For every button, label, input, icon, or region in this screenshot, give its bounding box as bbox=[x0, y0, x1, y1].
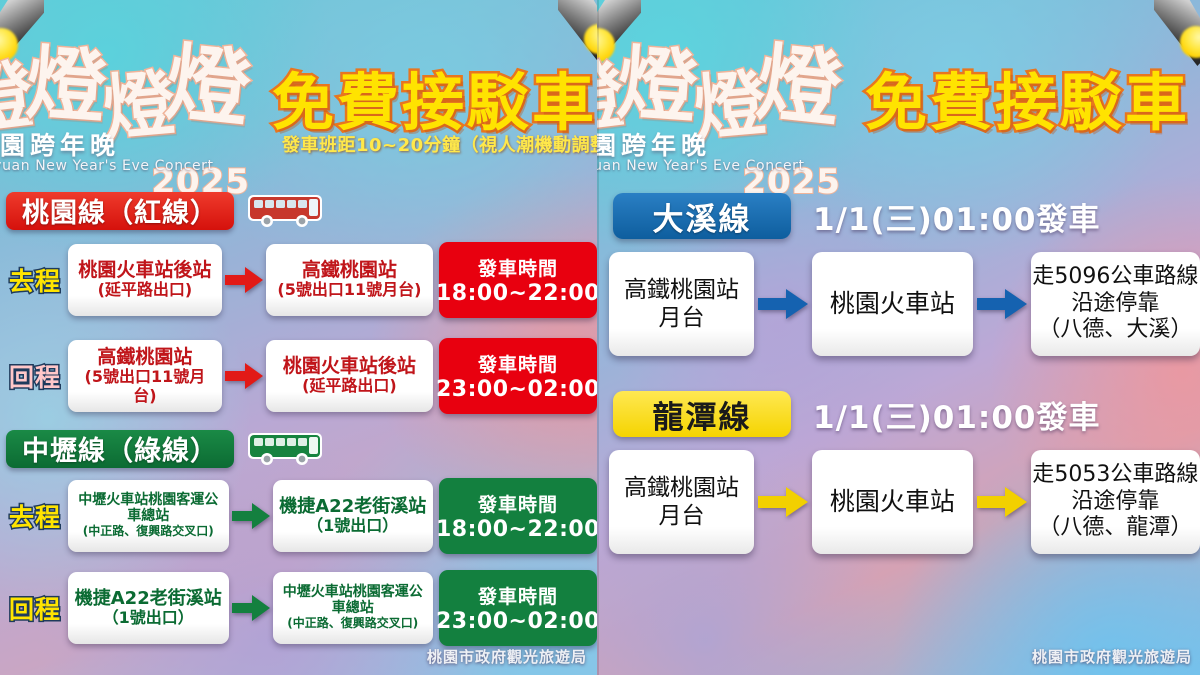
logo-char: 燈 bbox=[162, 40, 254, 132]
section-header: 龍潭線 1/1(三)01:00發車 bbox=[597, 390, 1200, 438]
line-badge-longtan: 龍潭線 bbox=[613, 391, 791, 437]
stop-name: 月台 bbox=[659, 304, 705, 332]
event-name-en: Taoyuan New Year's Eve Concert bbox=[597, 158, 805, 174]
arrow-right-icon bbox=[222, 267, 266, 293]
route-row: 去程 中壢火車站桃園客運公車總站 (中正路、復興路交叉口) 機捷A22老街溪站 … bbox=[0, 470, 597, 562]
section-header: 中壢線（綠線） bbox=[0, 428, 597, 470]
stop-name: 中壢火車站桃園客運公車總站 bbox=[74, 493, 223, 524]
stop-name: 機捷A22老街溪站 bbox=[75, 589, 222, 609]
stop-box-destination: 走5096公車路線 沿途停靠 （八德、大溪） bbox=[1031, 252, 1200, 356]
header: 燈 燈 燈 燈 桃園跨年晚會 2025 Taoyuan New Year's E… bbox=[0, 0, 597, 182]
stop-note: (5號出口11號月台) bbox=[74, 368, 216, 405]
time-value: 23:00~02:00 bbox=[436, 377, 597, 402]
stop-box-destination: 機捷A22老街溪站 （1號出口） bbox=[273, 480, 434, 552]
stop-name: 高鐵桃園站 bbox=[97, 347, 192, 368]
bus-icon-green bbox=[246, 429, 328, 469]
arrow-right-icon bbox=[222, 363, 266, 389]
time-label: 發車時間 bbox=[478, 350, 558, 377]
stop-note: (中正路、復興路交叉口) bbox=[83, 525, 214, 539]
stop-box-destination: 桃園火車站後站 (延平路出口) bbox=[266, 340, 433, 412]
stop-box-origin: 高鐵桃園站 月台 bbox=[609, 450, 754, 554]
stop-box-origin: 高鐵桃園站 (5號出口11號月台) bbox=[68, 340, 222, 412]
section-zhongli-green-line: 中壢線（綠線） bbox=[0, 428, 597, 654]
bus-icon-red bbox=[246, 191, 328, 231]
stop-note: (中正路、復興路交叉口) bbox=[287, 617, 418, 631]
stop-note: （八德、龍潭） bbox=[1038, 515, 1192, 542]
departure-time-box: 發車時間 23:00~02:00 bbox=[439, 570, 597, 646]
event-logo: 燈 燈 燈 燈 桃園跨年晚會 2025 Taoyuan New Year's E… bbox=[0, 8, 250, 130]
section-header: 大溪線 1/1(三)01:00發車 bbox=[597, 192, 1200, 240]
left-panel: 燈 燈 燈 燈 桃園跨年晚會 2025 Taoyuan New Year's E… bbox=[0, 0, 597, 675]
stop-name: 沿途停靠 bbox=[1071, 291, 1159, 318]
stop-box-transfer: 桃園火車站 bbox=[812, 252, 973, 356]
logo-char: 燈 bbox=[615, 43, 700, 128]
section-taoyuan-red-line: 桃園線（紅線） bbox=[0, 190, 597, 424]
panel-divider bbox=[597, 0, 599, 675]
shuttle-bus-infographic: 燈 燈 燈 燈 桃園跨年晚會 2025 Taoyuan New Year's E… bbox=[0, 0, 1200, 675]
time-value: 18:00~22:00 bbox=[436, 281, 597, 306]
right-panel: 燈 燈 燈 燈 桃園跨年晚會 2025 Taoyuan New Year's E… bbox=[597, 0, 1200, 675]
event-name-en: Taoyuan New Year's Eve Concert bbox=[0, 158, 214, 174]
stop-box-origin: 中壢火車站桃園客運公車總站 (中正路、復興路交叉口) bbox=[68, 480, 229, 552]
route-row: 回程 機捷A22老街溪站 （1號出口） 中壢火車站桃園客運公車總站 (中正路、復… bbox=[0, 562, 597, 654]
stop-note: （1號出口） bbox=[307, 517, 398, 535]
stop-box-origin: 桃園火車站後站 (延平路出口) bbox=[68, 244, 222, 316]
credit-text: 桃園市政府觀光旅遊局 bbox=[427, 646, 587, 667]
route-row: 高鐵桃園站 月台 桃園火車站 走5096公車路線 沿途停靠 （八德、大溪） bbox=[597, 240, 1200, 368]
arrow-right-icon bbox=[754, 289, 812, 319]
stop-box-transfer: 桃園火車站 bbox=[812, 450, 973, 554]
time-value: 23:00~02:00 bbox=[436, 609, 597, 634]
stop-note: （八德、大溪） bbox=[1038, 317, 1192, 344]
stop-box-destination: 中壢火車站桃園客運公車總站 (中正路、復興路交叉口) bbox=[273, 572, 434, 644]
stop-name: 高鐵桃園站 bbox=[624, 474, 739, 502]
stop-name: 機捷A22老街溪站 bbox=[279, 497, 426, 517]
direction-label: 去程 bbox=[2, 498, 68, 534]
section-header: 桃園線（紅線） bbox=[0, 190, 597, 232]
stop-name: 中壢火車站桃園客運公車總站 bbox=[279, 585, 428, 616]
page-title: 免費接駁車 bbox=[865, 52, 1190, 142]
stop-name: 沿途停靠 bbox=[1071, 489, 1159, 516]
stop-name: 桃園火車站後站 bbox=[78, 260, 211, 281]
stop-name: 桃園火車站 bbox=[830, 487, 955, 518]
departure-time-box: 發車時間 18:00~22:00 bbox=[439, 242, 597, 318]
stop-box-destination: 走5053公車路線 沿途停靠 （八德、龍潭） bbox=[1031, 450, 1200, 554]
line-badge-daxi: 大溪線 bbox=[613, 193, 791, 239]
event-logo: 燈 燈 燈 燈 桃園跨年晚會 2025 Taoyuan New Year's E… bbox=[597, 8, 841, 130]
stop-name: 月台 bbox=[659, 502, 705, 530]
stop-box-origin: 高鐵桃園站 月台 bbox=[609, 252, 754, 356]
departure-time: 1/1(三)01:00發車 bbox=[813, 194, 1100, 239]
arrow-right-icon bbox=[229, 503, 273, 529]
route-row: 回程 高鐵桃園站 (5號出口11號月台) 桃園火車站後站 (延平路出口) 發車時… bbox=[0, 328, 597, 424]
line-badge-red: 桃園線（紅線） bbox=[6, 192, 234, 230]
stop-note: （1號出口） bbox=[103, 609, 194, 627]
direction-label: 去程 bbox=[2, 262, 68, 298]
stop-name: 高鐵桃園站 bbox=[302, 260, 397, 281]
route-row: 高鐵桃園站 月台 桃園火車站 走5053公車路線 沿途停靠 （八德、龍潭） bbox=[597, 438, 1200, 566]
time-label: 發車時間 bbox=[478, 254, 558, 281]
route-row: 去程 桃園火車站後站 (延平路出口) 高鐵桃園站 (5號出口11號月台) 發車時… bbox=[0, 232, 597, 328]
stop-name: 走5053公車路線 bbox=[1032, 462, 1198, 489]
departure-time-box: 發車時間 23:00~02:00 bbox=[439, 338, 597, 414]
header: 燈 燈 燈 燈 桃園跨年晚會 2025 Taoyuan New Year's E… bbox=[597, 0, 1200, 182]
stop-name: 高鐵桃園站 bbox=[624, 276, 739, 304]
arrow-right-icon bbox=[973, 289, 1031, 319]
direction-label: 回程 bbox=[2, 590, 68, 626]
departure-time: 1/1(三)01:00發車 bbox=[813, 392, 1100, 437]
logo-char: 燈 bbox=[24, 43, 109, 128]
stop-box-destination: 高鐵桃園站 (5號出口11號月台) bbox=[266, 244, 433, 316]
logo-char: 燈 bbox=[753, 40, 845, 132]
time-value: 18:00~22:00 bbox=[436, 517, 597, 542]
stop-box-origin: 機捷A22老街溪站 （1號出口） bbox=[68, 572, 229, 644]
credit-text: 桃園市政府觀光旅遊局 bbox=[1032, 646, 1192, 667]
section-longtan-line: 龍潭線 1/1(三)01:00發車 高鐵桃園站 月台 桃園火車站 走5 bbox=[597, 390, 1200, 566]
time-label: 發車時間 bbox=[478, 582, 558, 609]
stop-name: 桃園火車站後站 bbox=[283, 356, 416, 377]
page-title: 免費接駁車 bbox=[272, 52, 597, 142]
page-subtitle: 發車班距10~20分鐘（視人潮機動調整班距 bbox=[282, 131, 597, 157]
stop-note: (延平路出口) bbox=[98, 281, 193, 299]
stop-name: 走5096公車路線 bbox=[1032, 264, 1198, 291]
stop-note: (延平路出口) bbox=[302, 377, 397, 395]
line-badge-green: 中壢線（綠線） bbox=[6, 430, 234, 468]
time-label: 發車時間 bbox=[478, 490, 558, 517]
section-daxi-line: 大溪線 1/1(三)01:00發車 高鐵桃園站 月台 桃園火車站 走5 bbox=[597, 192, 1200, 368]
arrow-right-icon bbox=[229, 595, 273, 621]
direction-label: 回程 bbox=[2, 358, 68, 394]
stop-name: 桃園火車站 bbox=[830, 289, 955, 320]
stop-note: (5號出口11號月台) bbox=[277, 281, 421, 299]
arrow-right-icon bbox=[754, 487, 812, 517]
departure-time-box: 發車時間 18:00~22:00 bbox=[439, 478, 597, 554]
arrow-right-icon bbox=[973, 487, 1031, 517]
